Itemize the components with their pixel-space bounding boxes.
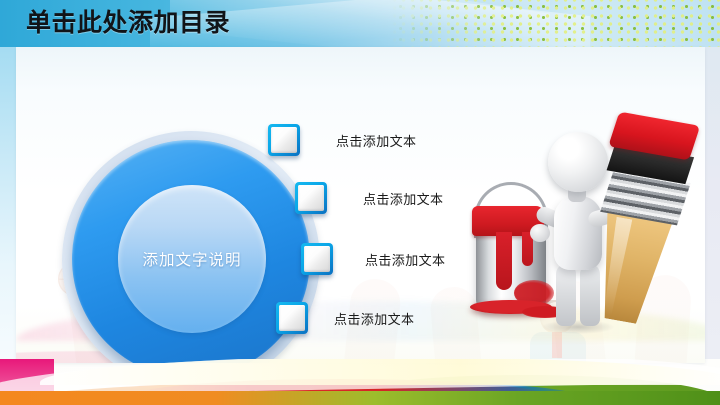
illustration-scene: [452, 122, 684, 344]
bullet-label-4: 点击添加文本: [334, 309, 414, 328]
bullet-square-icon[interactable]: [268, 124, 300, 156]
ribbon-wave-pale: [40, 359, 720, 385]
right-edge-strip: [704, 47, 720, 359]
ribbon-band-base: [0, 391, 720, 405]
slide-canvas: 单击此处添加目录 添加文字说明: [0, 0, 720, 405]
bullet-square-icon[interactable]: [301, 243, 333, 275]
bullet-item-3[interactable]: 点击添加文本: [301, 243, 445, 275]
bullet-square-icon[interactable]: [276, 302, 308, 334]
figure-left-hand: [530, 224, 550, 242]
circle-inner-disc[interactable]: 添加文字说明: [118, 185, 266, 333]
bottom-ribbon-decoration: [0, 359, 720, 405]
bullet-item-2[interactable]: 点击添加文本: [295, 182, 443, 214]
paint-drip: [496, 232, 512, 290]
circle-center-label: 添加文字说明: [142, 248, 241, 270]
bullet-item-1[interactable]: 点击添加文本: [268, 124, 416, 156]
bullet-item-4[interactable]: 点击添加文本: [276, 302, 414, 334]
bullet-label-1: 点击添加文本: [336, 131, 416, 150]
brush-wooden-handle: [589, 211, 672, 327]
content-panel: 添加文字说明 点击添加文本 点击添加文本 点击添加文本 点击添加文本: [16, 47, 705, 363]
bullet-label-3: 点击添加文本: [365, 250, 445, 269]
bullet-square-icon[interactable]: [295, 182, 327, 214]
bullet-label-2: 点击添加文本: [363, 189, 443, 208]
foliage-leaves-texture: [390, 0, 720, 47]
page-title: 单击此处添加目录: [26, 4, 230, 42]
left-edge-strip: [0, 47, 16, 359]
